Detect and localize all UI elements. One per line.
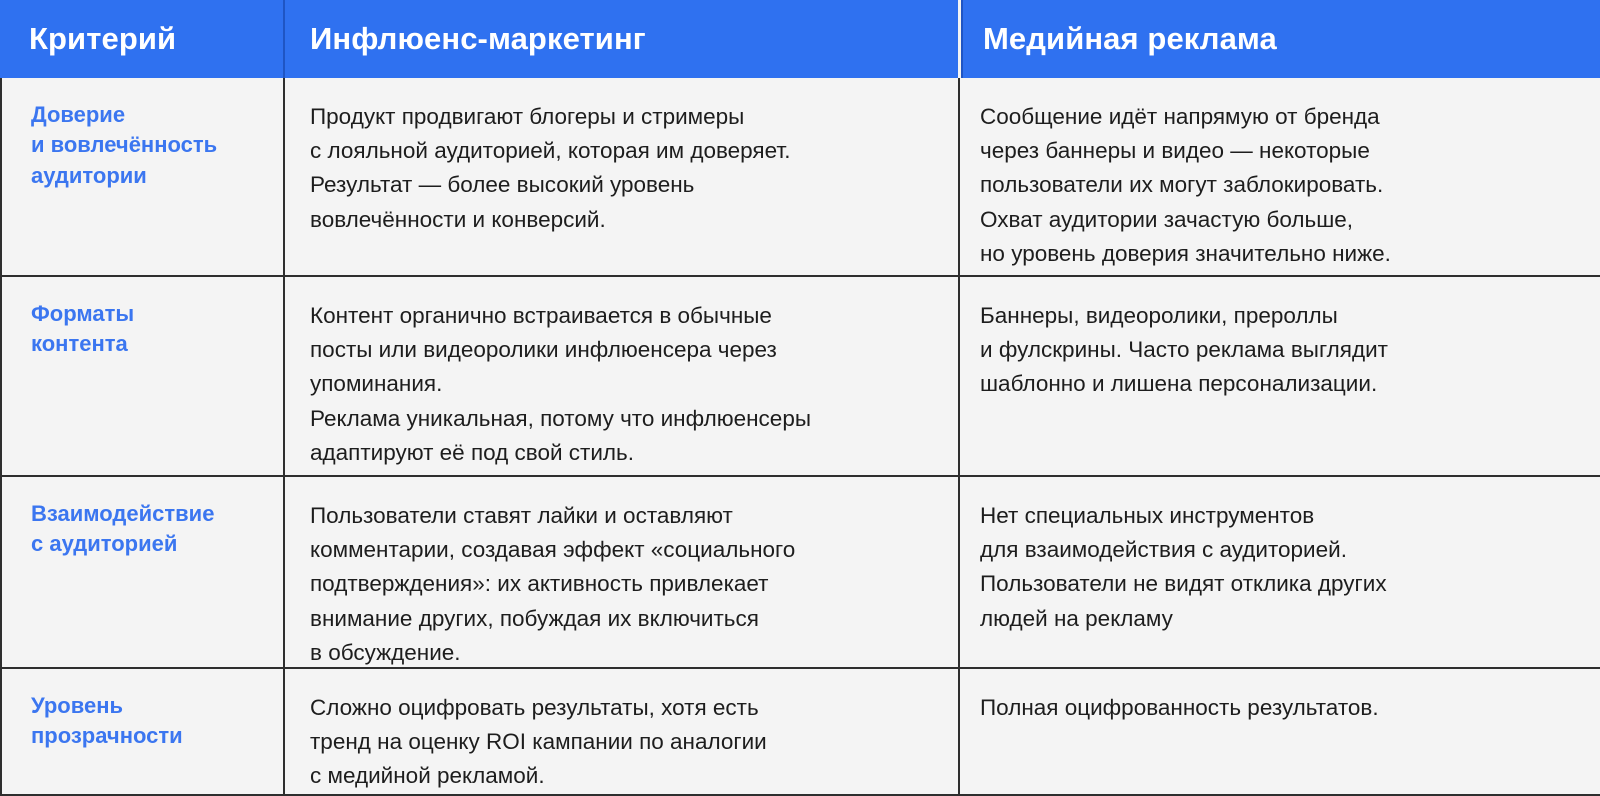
row-media-cell: Баннеры, видеоролики, прероллы и фулскри…	[958, 277, 1598, 475]
column-header-media-advertising: Медийная реклама	[961, 0, 1600, 78]
cell-paragraph: Сложно оцифровать результаты, хотя есть …	[310, 691, 940, 794]
row-influence-cell: Контент органично встраивается в обычные…	[283, 277, 958, 475]
cell-paragraph: Нет специальных инструментов для взаимод…	[980, 499, 1580, 636]
criterion-label: Взаимодействие с аудиторией	[31, 499, 269, 560]
cell-paragraph: Полная оцифрованность результатов.	[980, 691, 1580, 725]
row-media-cell: Нет специальных инструментов для взаимод…	[958, 477, 1598, 667]
row-influence-cell: Пользователи ставят лайки и оставляют ко…	[283, 477, 958, 667]
row-media-cell: Сообщение идёт напрямую от бренда через …	[958, 78, 1598, 275]
row-criterion-cell: Взаимодействие с аудиторией	[0, 477, 283, 667]
column-header-criterion: Критерий	[0, 0, 283, 78]
cell-paragraph: Пользователи ставят лайки и оставляют ко…	[310, 499, 940, 670]
criterion-label: Уровень прозрачности	[31, 691, 269, 752]
row-criterion-cell: Форматы контента	[0, 277, 283, 475]
table-row: Взаимодействие с аудиторией Пользователи…	[0, 475, 1600, 667]
table-row: Доверие и вовлечённость аудитории Продук…	[0, 78, 1600, 275]
row-influence-cell: Сложно оцифровать результаты, хотя есть …	[283, 669, 958, 794]
table-row: Уровень прозрачности Сложно оцифровать р…	[0, 667, 1600, 796]
table-row: Форматы контента Контент органично встра…	[0, 275, 1600, 475]
row-criterion-cell: Уровень прозрачности	[0, 669, 283, 794]
criterion-label: Форматы контента	[31, 299, 269, 360]
cell-paragraph: Контент органично встраивается в обычные…	[310, 299, 940, 470]
row-criterion-cell: Доверие и вовлечённость аудитории	[0, 78, 283, 275]
table-header-row: Критерий Инфлюенс-маркетинг Медийная рек…	[0, 0, 1600, 78]
cell-paragraph: Сообщение идёт напрямую от бренда через …	[980, 100, 1580, 271]
criterion-label: Доверие и вовлечённость аудитории	[31, 100, 269, 191]
column-header-influence-marketing: Инфлюенс-маркетинг	[283, 0, 958, 78]
table-body: Доверие и вовлечённость аудитории Продук…	[0, 78, 1600, 796]
cell-paragraph: Продукт продвигают блогеры и стримеры с …	[310, 100, 940, 237]
row-media-cell: Полная оцифрованность результатов.	[958, 669, 1598, 794]
row-influence-cell: Продукт продвигают блогеры и стримеры с …	[283, 78, 958, 275]
cell-paragraph: Баннеры, видеоролики, прероллы и фулскри…	[980, 299, 1580, 402]
comparison-table: Критерий Инфлюенс-маркетинг Медийная рек…	[0, 0, 1600, 796]
